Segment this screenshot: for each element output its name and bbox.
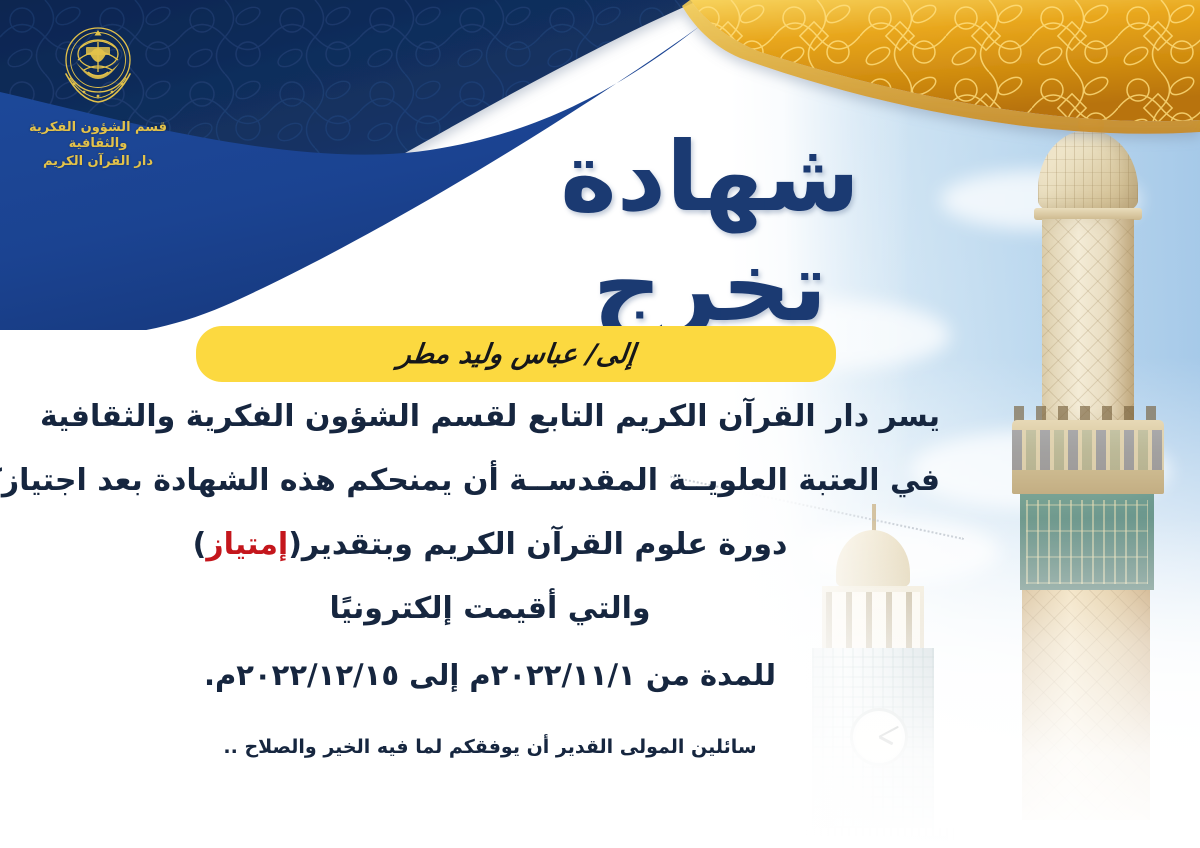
- body-line-3: دورة علوم القرآن الكريم وبتقدير(إمتياز): [40, 530, 940, 560]
- minaret-dome: [1038, 130, 1138, 212]
- minaret-calligraphy-band: [1020, 494, 1154, 590]
- minaret-lamps: [1008, 406, 1168, 428]
- minaret-ring: [1034, 208, 1142, 220]
- minaret-finial: [1089, 78, 1094, 124]
- closing-statement: سائلين المولى القدير أن يوفقكم لما فيه ا…: [40, 736, 940, 758]
- course-date-range: للمدة من ٢٠٢٢/١١/١م إلى ٢٠٢٢/١٢/١٥م.: [40, 658, 940, 692]
- grade-value: إمتياز: [206, 527, 288, 562]
- alawi-shrine-emblem-icon: [46, 14, 150, 118]
- page-title: شهادة تخرج: [430, 122, 990, 343]
- minaret-lower-shaft: [1022, 590, 1150, 820]
- certificate-body: يسر دار القرآن الكريم التابع لقسم الشؤون…: [40, 402, 940, 718]
- clock-tower-base: [798, 836, 948, 848]
- certificate-canvas: قسم الشؤون الفكرية والثقافية دار القرآن …: [0, 0, 1200, 848]
- gold-swoosh: [660, 0, 1200, 140]
- body-line-3-prefix: دورة علوم القرآن الكريم وبتقدير(: [288, 527, 787, 562]
- minaret-upper-shaft: [1042, 219, 1134, 424]
- emblem-svg: [46, 14, 150, 118]
- minaret-balcony: [1012, 420, 1164, 494]
- recipient-name-text: إلى/ عباس وليد مطر: [396, 339, 637, 370]
- logo-house-label: دار القرآن الكريم: [18, 153, 178, 171]
- shrine-logo-block: قسم الشؤون الفكرية والثقافية دار القرآن …: [18, 14, 178, 170]
- cloud-shape: [910, 430, 1170, 510]
- recipient-name-field: إلى/ عباس وليد مطر: [196, 326, 836, 382]
- body-line-1: يسر دار القرآن الكريم التابع لقسم الشؤون…: [40, 402, 940, 432]
- clock-tower-railing: [792, 828, 954, 840]
- body-line-3-suffix: ): [193, 527, 207, 562]
- body-line-4: والتي أقيمت إلكترونيًا: [40, 594, 940, 624]
- minaret-knob: [1078, 114, 1104, 134]
- logo-department-label: قسم الشؤون الفكرية والثقافية: [18, 120, 178, 153]
- body-line-2: في العتبة العلويــة المقدســة أن يمنحكم …: [40, 466, 940, 496]
